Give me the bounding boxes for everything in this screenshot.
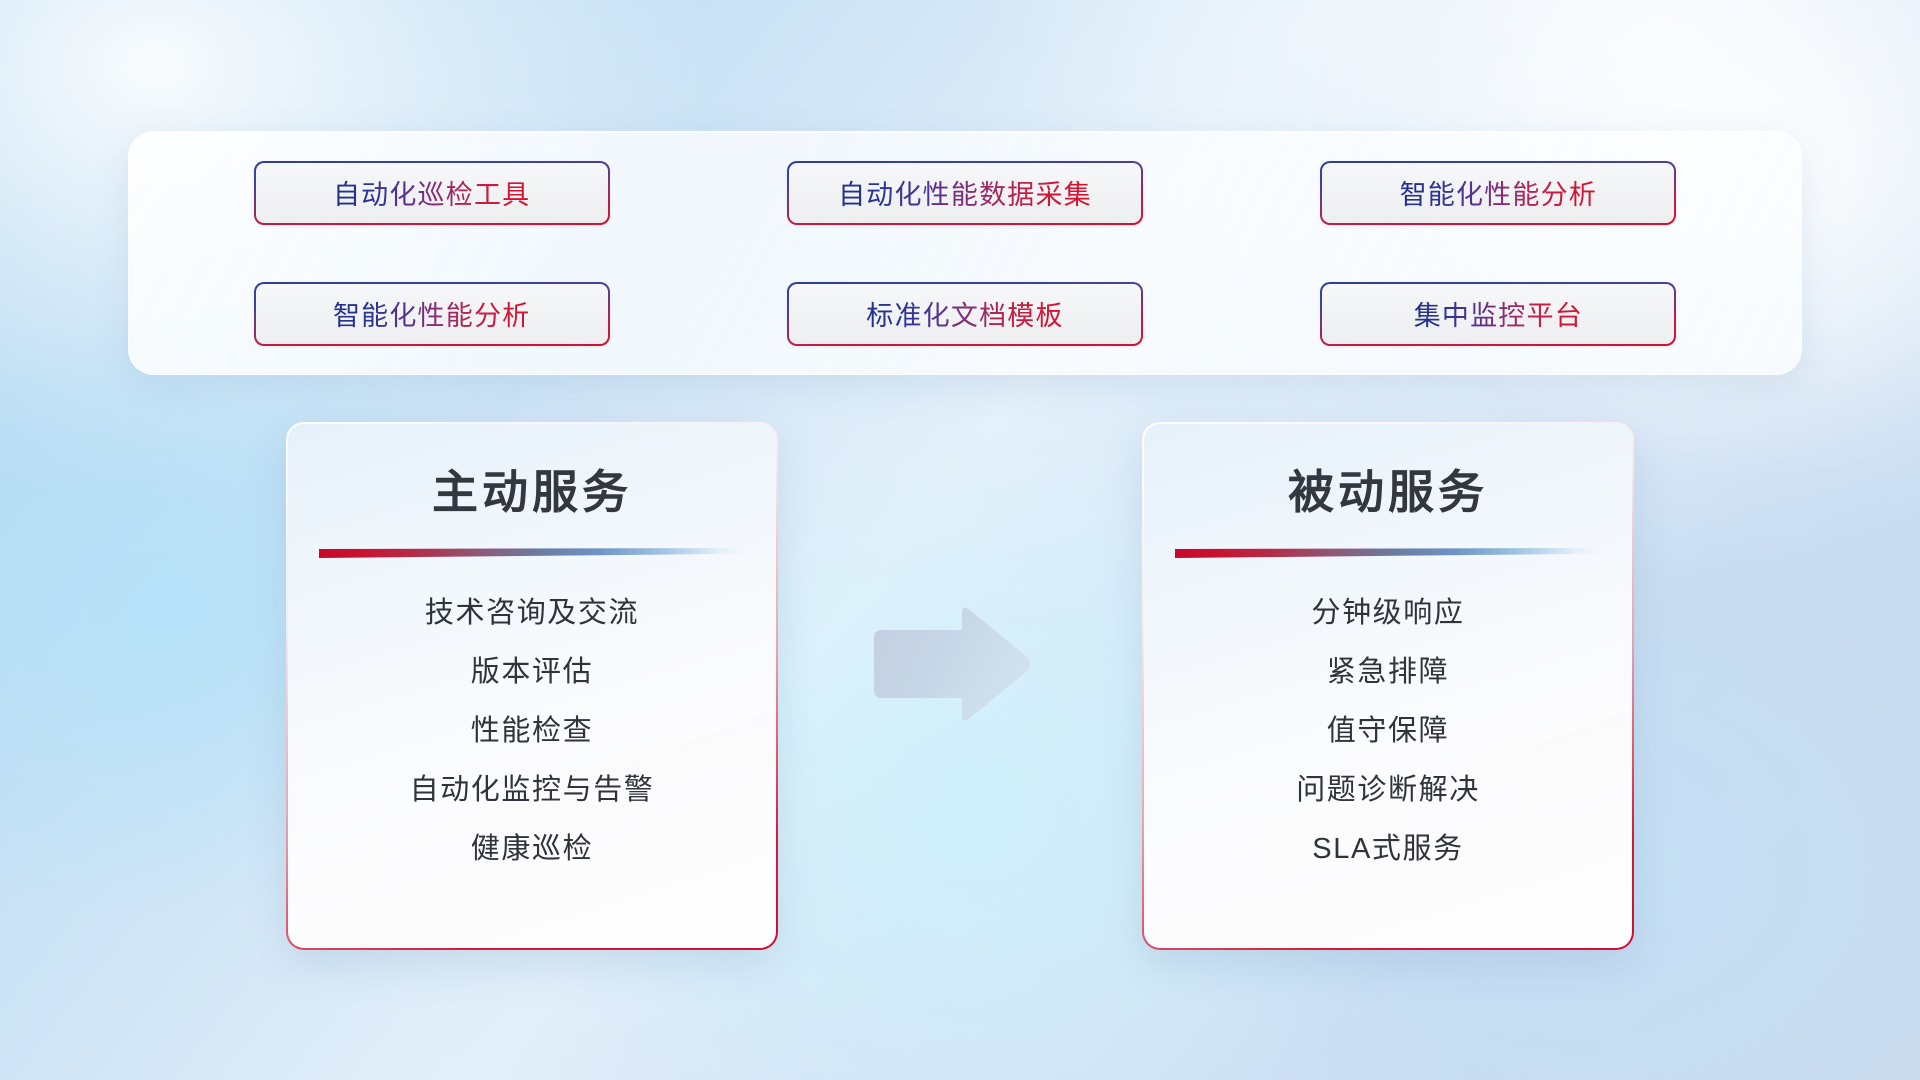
service-card-title: 被动服务 <box>1144 424 1632 522</box>
capability-pill-label: 自动化巡检工具 <box>333 173 530 212</box>
service-item-list: 分钟级响应 紧急排障 值守保障 问题诊断解决 SLA式服务 <box>1144 558 1632 879</box>
service-list-item: 健康巡检 <box>288 820 776 879</box>
service-list-item: 版本评估 <box>288 643 776 702</box>
capability-pill-label: 自动化性能数据采集 <box>838 173 1092 212</box>
capability-pill-label: 标准化文档模板 <box>866 294 1063 333</box>
capability-pill-automated-inspection-tool[interactable]: 自动化巡检工具 <box>254 161 610 225</box>
service-card-reactive[interactable]: 被动服务 分钟级响应 紧急排障 值守保障 问题诊断解决 SLA式服务 <box>1142 422 1634 950</box>
slide-canvas: 自动化巡检工具 自动化性能数据采集 智能化性能分析 智能化性能分析 标准化文档模… <box>0 0 1920 1080</box>
capability-pill-label: 智能化性能分析 <box>1400 173 1597 212</box>
service-card-title: 主动服务 <box>288 424 776 522</box>
service-item-list: 技术咨询及交流 版本评估 性能检查 自动化监控与告警 健康巡检 <box>288 558 776 879</box>
capabilities-grid: 自动化巡检工具 自动化性能数据采集 智能化性能分析 智能化性能分析 标准化文档模… <box>129 132 1801 374</box>
capabilities-panel: 自动化巡检工具 自动化性能数据采集 智能化性能分析 智能化性能分析 标准化文档模… <box>128 131 1802 375</box>
arrow-right-icon <box>868 604 1034 724</box>
service-list-item: 性能检查 <box>288 702 776 761</box>
capability-pill-label: 智能化性能分析 <box>333 294 530 333</box>
service-list-item: 紧急排障 <box>1144 643 1632 702</box>
service-card-proactive[interactable]: 主动服务 技术咨询及交流 版本评估 性能检查 自动化监控与告警 健康巡检 <box>286 422 778 950</box>
service-list-item: 自动化监控与告警 <box>288 761 776 820</box>
service-list-item: SLA式服务 <box>1144 820 1632 879</box>
service-list-item: 技术咨询及交流 <box>288 584 776 643</box>
capability-pill-standardized-document-template[interactable]: 标准化文档模板 <box>787 282 1143 346</box>
title-divider <box>319 548 745 558</box>
title-divider <box>1175 548 1601 558</box>
service-list-item: 问题诊断解决 <box>1144 761 1632 820</box>
capability-pill-automated-performance-data-collection[interactable]: 自动化性能数据采集 <box>787 161 1143 225</box>
service-list-item: 值守保障 <box>1144 702 1632 761</box>
capability-pill-label: 集中监控平台 <box>1414 294 1583 333</box>
service-list-item: 分钟级响应 <box>1144 584 1632 643</box>
capability-pill-centralized-monitoring-platform[interactable]: 集中监控平台 <box>1320 282 1676 346</box>
capability-pill-intelligent-performance-analysis-bottom[interactable]: 智能化性能分析 <box>254 282 610 346</box>
capability-pill-intelligent-performance-analysis-top[interactable]: 智能化性能分析 <box>1320 161 1676 225</box>
